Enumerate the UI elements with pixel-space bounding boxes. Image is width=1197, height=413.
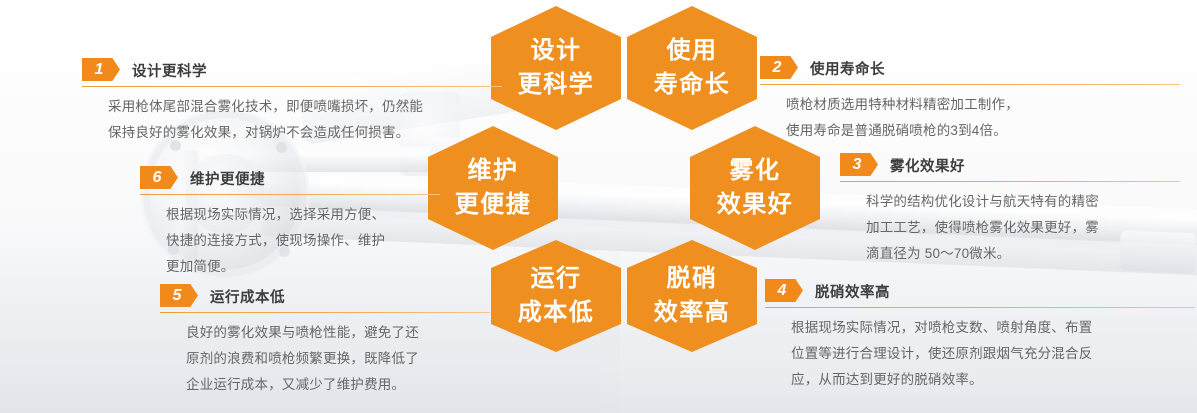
feature-6-header: 6 维护更便捷 [140, 163, 440, 189]
hex-lifespan[interactable]: 使用 寿命长 [627, 6, 757, 130]
hex-design-line1: 设计 [531, 34, 582, 68]
hex-atomizing-line2: 效果好 [717, 188, 794, 222]
feature-4-line-3: 应，从而达到更好的脱硝效率。 [791, 367, 1195, 393]
feature-4-number-badge: 4 [765, 279, 803, 302]
feature-2-divider [760, 84, 1180, 85]
feature-5-body: 良好的雾化效果与喷枪性能，避免了还 原剂的浪费和喷枪频繁更换，既降低了 企业运行… [160, 320, 490, 398]
feature-4-header: 4 脱硝效率高 [765, 276, 1195, 302]
feature-block-4: 4 脱硝效率高 根据现场实际情况，对喷枪支数、喷射角度、布置 位置等进行合理设计… [765, 276, 1195, 393]
feature-3-body: 科学的结构优化设计与航天特有的精密 加工工艺，使得喷枪雾化效果更好，雾 滴直径为… [840, 189, 1180, 267]
feature-2-line-1: 喷枪材质选用特种材料精密加工制作， [786, 92, 1180, 118]
feature-3-title: 雾化效果好 [890, 158, 965, 176]
hex-cost-line1: 运行 [531, 262, 582, 296]
feature-block-3: 3 雾化效果好 科学的结构优化设计与航天特有的精密 加工工艺，使得喷枪雾化效果更… [840, 150, 1180, 267]
feature-block-1: 1 设计更科学 采用枪体尾部混合雾化技术，即便喷嘴损坏，仍然能 保持良好的雾化效… [82, 55, 502, 146]
feature-1-header: 1 设计更科学 [82, 55, 502, 81]
feature-5-number-badge: 5 [160, 284, 198, 307]
feature-3-line-1: 科学的结构优化设计与航天特有的精密 [866, 189, 1180, 215]
hex-cost[interactable]: 运行 成本低 [491, 240, 621, 352]
feature-1-number-badge: 1 [82, 58, 120, 81]
hex-lifespan-line2: 寿命长 [654, 68, 731, 102]
feature-3-divider [840, 181, 1180, 182]
hex-design-line2: 更科学 [518, 68, 595, 102]
feature-4-divider [765, 307, 1195, 308]
feature-4-title: 脱硝效率高 [815, 284, 890, 302]
feature-5-line-3: 企业运行成本，又减少了维护费用。 [186, 372, 490, 398]
feature-block-5: 5 运行成本低 良好的雾化效果与喷枪性能，避免了还 原剂的浪费和喷枪频繁更换，既… [160, 281, 490, 398]
hex-efficiency-line2: 效率高 [654, 296, 731, 330]
feature-6-line-2: 快捷的连接方式，使现场操作、维护 [166, 228, 440, 254]
feature-2-header: 2 使用寿命长 [760, 53, 1180, 79]
feature-6-number-badge: 6 [140, 166, 178, 189]
feature-1-line-1: 采用枪体尾部混合雾化技术，即便喷嘴损坏，仍然能 [108, 94, 502, 120]
feature-3-header: 3 雾化效果好 [840, 150, 1180, 176]
feature-6-body: 根据现场实际情况，选择采用方便、 快捷的连接方式，使现场操作、维护 更加简便。 [140, 202, 440, 280]
feature-3-line-3: 滴直径为 50～70微米。 [866, 241, 1180, 267]
feature-6-title: 维护更便捷 [190, 171, 265, 189]
feature-2-body: 喷枪材质选用特种材料精密加工制作， 使用寿命是普通脱硝喷枪的3到4倍。 [760, 92, 1180, 144]
feature-2-line-2: 使用寿命是普通脱硝喷枪的3到4倍。 [786, 118, 1180, 144]
feature-4-line-1: 根据现场实际情况，对喷枪支数、喷射角度、布置 [791, 315, 1195, 341]
feature-3-line-2: 加工工艺，使得喷枪雾化效果更好，雾 [866, 215, 1180, 241]
feature-5-title: 运行成本低 [210, 289, 285, 307]
hex-atomizing-line1: 雾化 [730, 154, 781, 188]
feature-4-line-2: 位置等进行合理设计，使还原剂跟烟气充分混合反 [791, 341, 1195, 367]
hex-maintenance-line1: 维护 [468, 154, 519, 188]
feature-5-line-2: 原剂的浪费和喷枪频繁更换，既降低了 [186, 346, 490, 372]
feature-6-line-1: 根据现场实际情况，选择采用方便、 [166, 202, 440, 228]
feature-block-6: 6 维护更便捷 根据现场实际情况，选择采用方便、 快捷的连接方式，使现场操作、维… [140, 163, 440, 280]
feature-2-title: 使用寿命长 [810, 61, 885, 79]
feature-1-divider [82, 86, 502, 87]
infographic-canvas: 设计 更科学 使用 寿命长 维护 更便捷 雾化 效果好 运行 成本低 脱硝 效率… [0, 0, 1197, 413]
feature-5-line-1: 良好的雾化效果与喷枪性能，避免了还 [186, 320, 490, 346]
feature-1-line-2: 保持良好的雾化效果，对锅炉不会造成任何损害。 [108, 120, 502, 146]
feature-6-line-3: 更加简便。 [166, 254, 440, 280]
feature-block-2: 2 使用寿命长 喷枪材质选用特种材料精密加工制作， 使用寿命是普通脱硝喷枪的3到… [760, 53, 1180, 144]
hex-cost-line2: 成本低 [518, 296, 595, 330]
feature-6-divider [140, 194, 440, 195]
feature-3-number-badge: 3 [840, 153, 878, 176]
hex-lifespan-line1: 使用 [667, 34, 718, 68]
hex-maintenance-line2: 更便捷 [455, 188, 532, 222]
feature-2-number-badge: 2 [760, 56, 798, 79]
feature-5-header: 5 运行成本低 [160, 281, 490, 307]
feature-5-divider [160, 312, 490, 313]
feature-1-title: 设计更科学 [132, 63, 207, 81]
hex-atomizing[interactable]: 雾化 效果好 [690, 126, 820, 250]
hex-efficiency-line1: 脱硝 [667, 262, 718, 296]
hex-efficiency[interactable]: 脱硝 效率高 [627, 240, 757, 352]
feature-4-body: 根据现场实际情况，对喷枪支数、喷射角度、布置 位置等进行合理设计，使还原剂跟烟气… [765, 315, 1195, 393]
hex-design[interactable]: 设计 更科学 [491, 6, 621, 130]
feature-1-body: 采用枪体尾部混合雾化技术，即便喷嘴损坏，仍然能 保持良好的雾化效果，对锅炉不会造… [82, 94, 502, 146]
